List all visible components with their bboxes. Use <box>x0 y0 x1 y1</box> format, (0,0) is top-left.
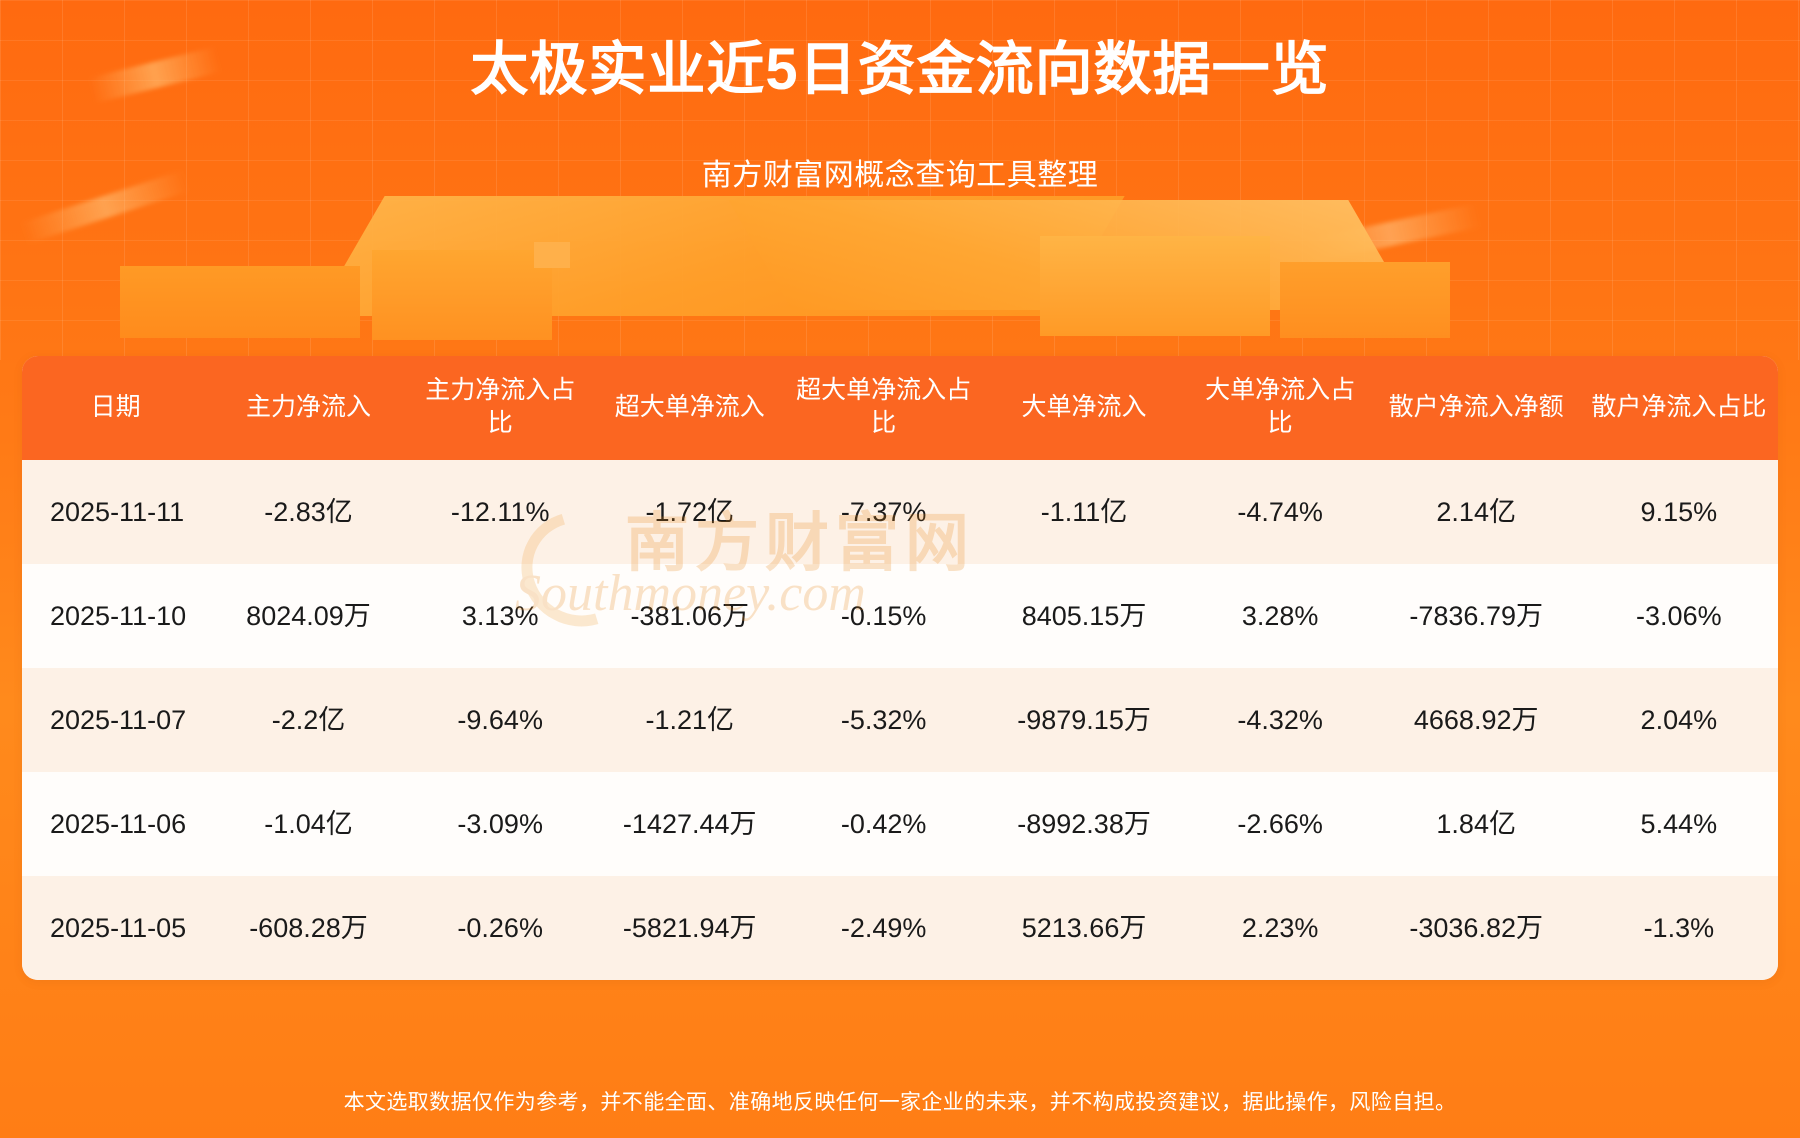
cell-main-net-inflow-pct: -0.26% <box>408 876 593 980</box>
column-header-date: 日期 <box>22 356 209 460</box>
cell-date: 2025-11-06 <box>22 772 209 876</box>
cell-main-net-inflow-pct: -12.11% <box>408 460 593 564</box>
decor-light-streak <box>1299 204 1480 265</box>
table-header: 日期 主力净流入 主力净流入占比 超大单净流入 超大单净流入占比 大单净流入 大… <box>22 356 1778 460</box>
cell-retail-net-inflow-pct: 9.15% <box>1580 460 1778 564</box>
cell-main-net-inflow: -2.83亿 <box>209 460 407 564</box>
cell-large-net-inflow-pct: -2.66% <box>1188 772 1373 876</box>
cell-super-large-net-inflow-pct: -2.49% <box>787 876 981 980</box>
cell-retail-net-inflow: 1.84亿 <box>1373 772 1580 876</box>
cell-large-net-inflow-pct: -4.74% <box>1188 460 1373 564</box>
disclaimer-note: 本文选取数据仅作为参考，并不能全面、准确地反映任何一家企业的未来，并不构成投资建… <box>0 1086 1800 1116</box>
cell-main-net-inflow: -2.2亿 <box>209 668 407 772</box>
column-header-large-net-inflow: 大单净流入 <box>981 356 1188 460</box>
column-header-retail-net-inflow: 散户净流入净额 <box>1373 356 1580 460</box>
cell-date: 2025-11-11 <box>22 460 209 564</box>
cell-retail-net-inflow: 2.14亿 <box>1373 460 1580 564</box>
cell-super-large-net-inflow: -1.72亿 <box>593 460 787 564</box>
cell-large-net-inflow-pct: -4.32% <box>1188 668 1373 772</box>
infographic-page: 太极实业近5日资金流向数据一览 南方财富网概念查询工具整理 日期 主力净流入 主… <box>0 0 1800 1138</box>
cell-retail-net-inflow: -7836.79万 <box>1373 564 1580 668</box>
column-header-super-large-net-inflow: 超大单净流入 <box>593 356 787 460</box>
cell-super-large-net-inflow-pct: -0.15% <box>787 564 981 668</box>
page-subtitle: 南方财富网概念查询工具整理 <box>0 150 1800 194</box>
fund-flow-table-card: 日期 主力净流入 主力净流入占比 超大单净流入 超大单净流入占比 大单净流入 大… <box>22 356 1778 980</box>
cell-super-large-net-inflow: -1.21亿 <box>593 668 787 772</box>
cell-large-net-inflow: -9879.15万 <box>981 668 1188 772</box>
cell-super-large-net-inflow-pct: -0.42% <box>787 772 981 876</box>
cell-super-large-net-inflow: -5821.94万 <box>593 876 787 980</box>
decor-block <box>1280 262 1450 338</box>
cell-large-net-inflow: 8405.15万 <box>981 564 1188 668</box>
cell-retail-net-inflow: 4668.92万 <box>1373 668 1580 772</box>
table-row: 2025-11-06 -1.04亿 -3.09% -1427.44万 -0.42… <box>22 772 1778 876</box>
cell-super-large-net-inflow-pct: -5.32% <box>787 668 981 772</box>
cell-date: 2025-11-07 <box>22 668 209 772</box>
decor-block <box>534 242 570 268</box>
cell-retail-net-inflow-pct: 5.44% <box>1580 772 1778 876</box>
cell-main-net-inflow: -608.28万 <box>209 876 407 980</box>
cell-retail-net-inflow-pct: -3.06% <box>1580 564 1778 668</box>
page-title: 太极实业近5日资金流向数据一览 <box>0 38 1800 102</box>
cell-main-net-inflow-pct: -3.09% <box>408 772 593 876</box>
cell-retail-net-inflow: -3036.82万 <box>1373 876 1580 980</box>
column-header-large-net-inflow-pct: 大单净流入占比 <box>1188 356 1373 460</box>
cell-super-large-net-inflow: -381.06万 <box>593 564 787 668</box>
cell-large-net-inflow: 5213.66万 <box>981 876 1188 980</box>
cell-super-large-net-inflow-pct: -7.37% <box>787 460 981 564</box>
table-row: 2025-11-10 8024.09万 3.13% -381.06万 -0.15… <box>22 564 1778 668</box>
cell-main-net-inflow-pct: 3.13% <box>408 564 593 668</box>
cell-main-net-inflow: 8024.09万 <box>209 564 407 668</box>
cell-super-large-net-inflow: -1427.44万 <box>593 772 787 876</box>
decor-podium-plate <box>728 200 1412 310</box>
fund-flow-table: 日期 主力净流入 主力净流入占比 超大单净流入 超大单净流入占比 大单净流入 大… <box>22 356 1778 980</box>
column-header-main-net-inflow: 主力净流入 <box>209 356 407 460</box>
cell-large-net-inflow-pct: 3.28% <box>1188 564 1373 668</box>
table-row: 2025-11-07 -2.2亿 -9.64% -1.21亿 -5.32% -9… <box>22 668 1778 772</box>
cell-date: 2025-11-05 <box>22 876 209 980</box>
column-header-super-large-net-inflow-pct: 超大单净流入占比 <box>787 356 981 460</box>
table-body: 2025-11-11 -2.83亿 -12.11% -1.72亿 -7.37% … <box>22 460 1778 980</box>
table-header-row: 日期 主力净流入 主力净流入占比 超大单净流入 超大单净流入占比 大单净流入 大… <box>22 356 1778 460</box>
table-row: 2025-11-05 -608.28万 -0.26% -5821.94万 -2.… <box>22 876 1778 980</box>
cell-large-net-inflow: -1.11亿 <box>981 460 1188 564</box>
cell-large-net-inflow-pct: 2.23% <box>1188 876 1373 980</box>
cell-retail-net-inflow-pct: -1.3% <box>1580 876 1778 980</box>
cell-date: 2025-11-10 <box>22 564 209 668</box>
cell-retail-net-inflow-pct: 2.04% <box>1580 668 1778 772</box>
cell-main-net-inflow-pct: -9.64% <box>408 668 593 772</box>
cell-large-net-inflow: -8992.38万 <box>981 772 1188 876</box>
decor-block <box>120 266 360 338</box>
decor-podium-plate <box>315 196 1124 316</box>
column-header-main-net-inflow-pct: 主力净流入占比 <box>408 356 593 460</box>
decor-block <box>372 250 552 340</box>
column-header-retail-net-inflow-pct: 散户净流入占比 <box>1580 356 1778 460</box>
cell-main-net-inflow: -1.04亿 <box>209 772 407 876</box>
decor-block <box>1040 236 1270 336</box>
table-row: 2025-11-11 -2.83亿 -12.11% -1.72亿 -7.37% … <box>22 460 1778 564</box>
